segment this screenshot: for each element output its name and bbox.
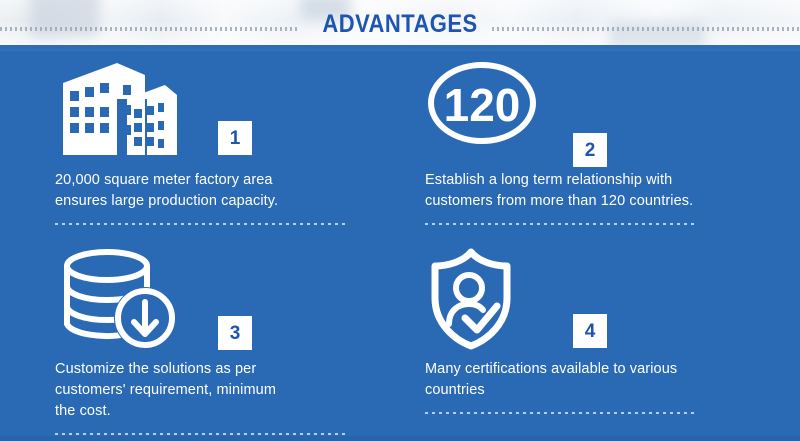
advantage-3-divider xyxy=(55,433,345,435)
advantages-infographic: ADVANTAGES xyxy=(0,0,800,441)
advantage-item-4: 4 Many certifications available to vario… xyxy=(425,244,745,414)
coin-stack-download-icon xyxy=(55,244,177,354)
advantage-4-text: Many certifications available to various… xyxy=(425,359,743,401)
advantage-3-icon-row: 3 xyxy=(55,244,355,359)
advantage-4-icon-row: 4 xyxy=(425,244,745,359)
page-title: ADVANTAGES xyxy=(48,10,752,39)
advantage-3-text: Customize the solutions as per customers… xyxy=(55,359,347,422)
advantage-1-number-badge: 1 xyxy=(218,121,252,155)
advantages-grid: 1 20,000 square meter factory area ensur… xyxy=(0,51,800,436)
page-header: ADVANTAGES xyxy=(0,0,800,45)
advantage-2-divider xyxy=(425,223,697,225)
advantages-panel: 1 20,000 square meter factory area ensur… xyxy=(0,45,800,441)
oval-120-icon: 120 xyxy=(425,55,545,157)
advantage-2-icon-row: 120 2 xyxy=(425,55,745,170)
advantage-item-1: 1 20,000 square meter factory area ensur… xyxy=(55,55,355,225)
advantage-4-divider xyxy=(425,412,697,414)
advantage-2-number-badge: 2 xyxy=(573,133,607,167)
shield-person-check-icon xyxy=(425,244,535,354)
advantage-4-number-badge: 4 xyxy=(573,314,607,348)
advantage-2-text: Establish a long term relationship with … xyxy=(425,170,743,212)
advantage-1-text: 20,000 square meter factory area ensures… xyxy=(55,170,347,212)
buildings-icon xyxy=(55,55,180,163)
advantage-3-number-badge: 3 xyxy=(218,316,252,350)
advantage-item-2: 120 2 Establish a long term relationship… xyxy=(425,55,745,225)
oval-icon-label: 120 xyxy=(444,79,521,131)
advantage-1-divider xyxy=(55,223,345,225)
advantage-item-3: 3 Customize the solutions as per custome… xyxy=(55,244,355,435)
panel-bottom-band xyxy=(0,436,800,441)
advantage-1-icon-row: 1 xyxy=(55,55,355,170)
